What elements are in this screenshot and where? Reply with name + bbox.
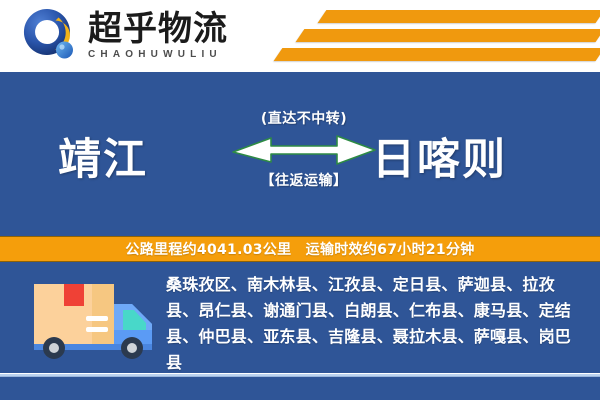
- bidirectional-arrow-icon: [228, 132, 380, 166]
- header-bar: 超乎物流 CHAOHUWULIU: [0, 0, 600, 72]
- logistics-route-poster: 超乎物流 CHAOHUWULIU 靖江 (直达不中转) 【往返运输】 日喀则 公…: [0, 0, 600, 400]
- bottom-divider: [0, 373, 600, 377]
- distance-duration-bar: 公路里程约4041.03公里 运输时效约67小时21分钟: [0, 236, 600, 262]
- coverage-panel: 桑珠孜区、南木林县、江孜县、定日县、萨迦县、拉孜县、昂仁县、谢通门县、白朗县、仁…: [0, 262, 600, 400]
- brand-name-en: CHAOHUWULIU: [88, 49, 228, 60]
- distance-duration-text: 公路里程约4041.03公里 运输时效约67小时21分钟: [125, 239, 474, 259]
- brand-text-block: 超乎物流 CHAOHUWULIU: [88, 12, 228, 61]
- coverage-areas-text: 桑珠孜区、南木林县、江孜县、定日县、萨迦县、拉孜县、昂仁县、谢通门县、白朗县、仁…: [166, 272, 584, 376]
- route-panel: 靖江 (直达不中转) 【往返运输】 日喀则: [0, 72, 600, 236]
- stripe-3: [274, 48, 600, 61]
- circular-q-logo-icon: [22, 7, 80, 65]
- route-center-block: (直达不中转) 【往返运输】: [228, 108, 380, 190]
- round-trip-note: 【往返运输】: [228, 170, 380, 190]
- origin-city: 靖江: [58, 125, 148, 187]
- brand-name-cn: 超乎物流: [88, 12, 228, 47]
- header-stripes-decoration: [270, 8, 600, 66]
- delivery-truck-icon: [28, 276, 160, 362]
- direct-route-note: (直达不中转): [228, 108, 380, 128]
- stripe-1: [318, 10, 600, 23]
- brand-logo[interactable]: 超乎物流 CHAOHUWULIU: [22, 6, 228, 66]
- stripe-2: [296, 29, 600, 42]
- destination-city: 日喀则: [372, 125, 507, 187]
